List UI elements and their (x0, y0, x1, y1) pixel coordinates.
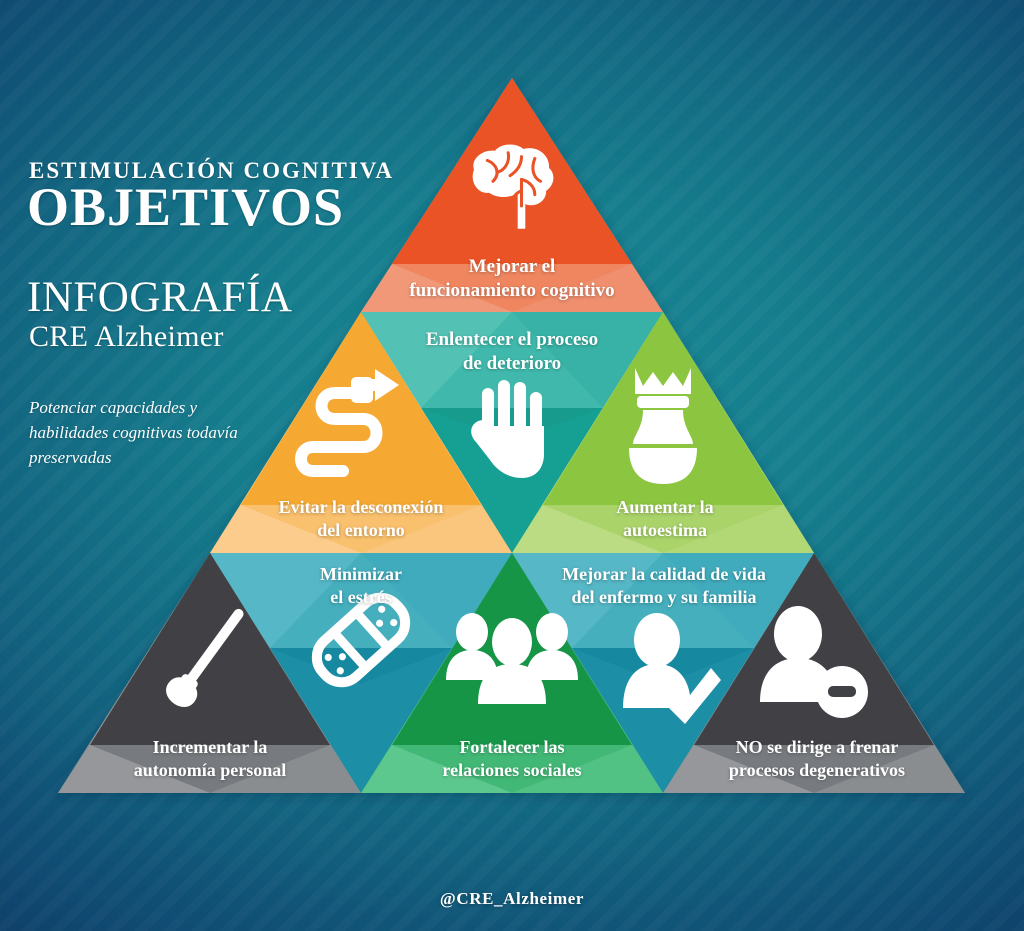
pyramid-diagram (0, 0, 1024, 931)
pyramid-svg (0, 0, 1024, 931)
social-handle: @CRE_Alzheimer (0, 889, 1024, 909)
infographic-canvas: ESTIMULACIÓN COGNITIVA OBJETIVOS INFOGRA… (0, 0, 1024, 931)
